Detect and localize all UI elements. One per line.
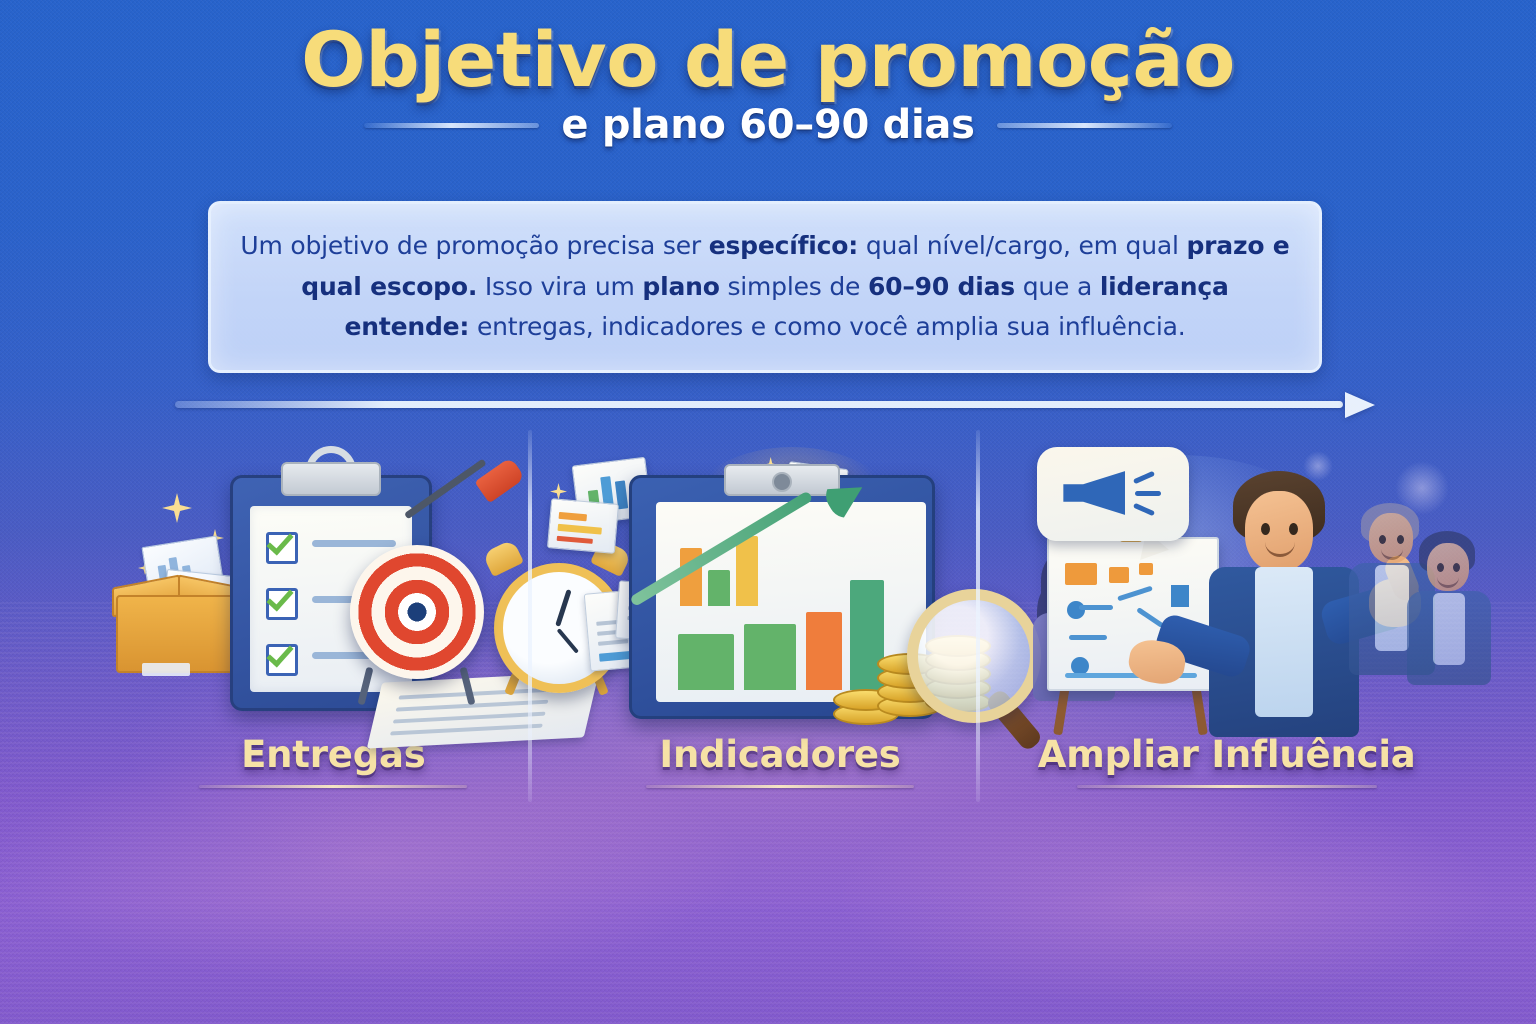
subtitle-rule-right (997, 123, 1172, 128)
intro-card: Um objetivo de promoção precisa ser espe… (208, 201, 1322, 373)
intro-emphasis: específico: (709, 231, 858, 260)
easel-leg-left (1053, 685, 1070, 736)
chart-card-icon (547, 498, 619, 554)
growth-arrow-shaft (629, 490, 813, 607)
intro-paragraph: Um objetivo de promoção precisa ser espe… (237, 226, 1293, 348)
subtitle-rule-left (364, 123, 539, 128)
panel-label-underline (646, 785, 914, 788)
box-body (116, 595, 244, 673)
timeline-arrow (175, 392, 1375, 418)
intro-emphasis: 60–90 dias (868, 272, 1015, 301)
speech-bubble (1037, 447, 1189, 541)
timeline-arrow-line (175, 401, 1343, 408)
intro-text-run: entregas, indicadores e como você amplia… (469, 312, 1185, 341)
ampliar-influencia-illustration (1003, 441, 1450, 733)
target-bullseye-icon (350, 545, 484, 679)
easel-icon (1047, 537, 1215, 697)
panel-entregas[interactable]: Entregas (110, 430, 557, 812)
panel-label-underline (1077, 785, 1377, 788)
panel-row: Entregas (110, 430, 1450, 812)
intro-text-run: simples de (720, 272, 868, 301)
panel-divider-2 (976, 430, 980, 802)
header: Objetivo de promoção e plano 60–90 dias (0, 0, 1536, 190)
audience-person (1411, 533, 1487, 683)
panel-label-underline (199, 785, 467, 788)
entregas-illustration (110, 441, 557, 733)
sparkle-icon (162, 493, 192, 523)
intro-text-run: que a (1015, 272, 1100, 301)
intro-emphasis: plano (642, 272, 719, 301)
panel-ampliar-influencia[interactable]: Ampliar Influência (1003, 430, 1450, 812)
panel-label-ampliar-influencia: Ampliar Influência (1038, 733, 1416, 776)
decorative-orb (1395, 461, 1449, 515)
panel-divider-1 (528, 430, 532, 802)
megaphone-icon (1063, 471, 1125, 515)
timeline-arrow-head-icon (1345, 392, 1375, 418)
page-title: Objetivo de promoção (0, 0, 1536, 98)
page-subtitle: e plano 60–90 dias (561, 102, 974, 148)
intro-text-run: Isso vira um (477, 272, 642, 301)
clipboard-clamp (281, 462, 381, 496)
alarm-bell-left (482, 539, 524, 577)
infographic-canvas: Objetivo de promoção e plano 60–90 dias … (0, 0, 1536, 1024)
intro-text-run: Um objetivo de promoção precisa ser (240, 231, 708, 260)
panel-label-indicadores: Indicadores (659, 733, 900, 776)
panel-indicadores[interactable]: Indicadores (557, 430, 1004, 812)
intro-text-run: qual nível/cargo, em qual (858, 231, 1186, 260)
subtitle-row: e plano 60–90 dias (0, 102, 1536, 148)
indicadores-illustration (557, 441, 1004, 733)
growth-arrow-icon (635, 487, 859, 607)
